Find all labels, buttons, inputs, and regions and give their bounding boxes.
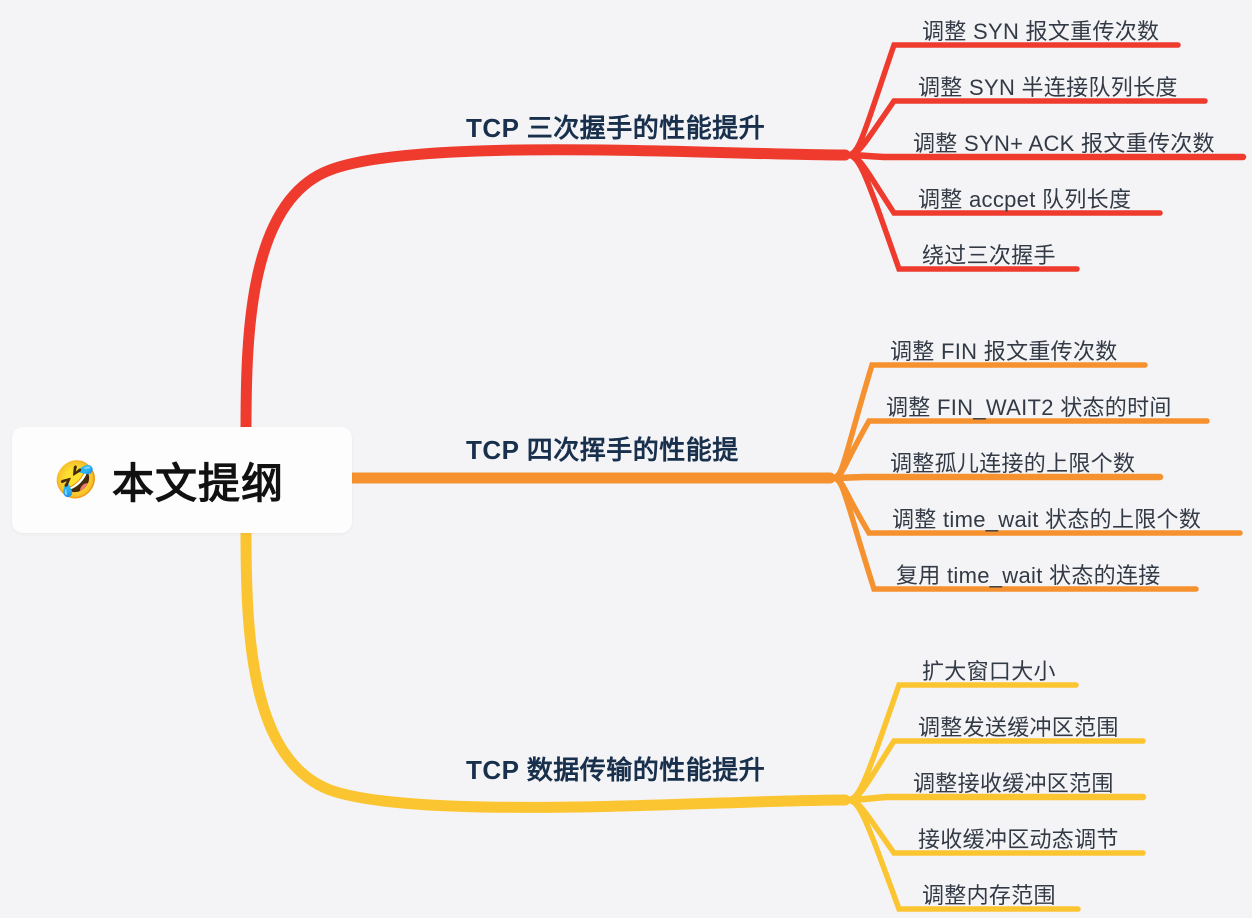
branch-label-three-way-handshake[interactable]: TCP 三次握手的性能提升 bbox=[466, 108, 765, 145]
leaf-label-four-way-wavehand-0[interactable]: 调整 FIN 报文重传次数 bbox=[890, 334, 1118, 366]
branch-label-data-transfer[interactable]: TCP 数据传输的性能提升 bbox=[466, 750, 765, 787]
leaf-label-three-way-handshake-2[interactable]: 调整 SYN+ ACK 报文重传次数 bbox=[913, 126, 1215, 158]
leaf-label-data-transfer-0[interactable]: 扩大窗口大小 bbox=[922, 654, 1056, 686]
leaf-label-data-transfer-4[interactable]: 调整内存范围 bbox=[922, 878, 1056, 910]
branch-label-four-way-wavehand[interactable]: TCP 四次挥手的性能提 bbox=[466, 430, 739, 467]
leaf-label-three-way-handshake-1[interactable]: 调整 SYN 半连接队列长度 bbox=[918, 70, 1178, 102]
leaf-label-four-way-wavehand-1[interactable]: 调整 FIN_WAIT2 状态的时间 bbox=[886, 390, 1172, 422]
leaf-label-four-way-wavehand-3[interactable]: 调整 time_wait 状态的上限个数 bbox=[892, 502, 1201, 534]
root-node-title: 本文提纲 bbox=[112, 450, 284, 511]
rofl-emoji: 🤣 bbox=[56, 460, 96, 500]
leaf-label-four-way-wavehand-2[interactable]: 调整孤儿连接的上限个数 bbox=[890, 446, 1135, 478]
leaf-label-data-transfer-3[interactable]: 接收缓冲区动态调节 bbox=[918, 822, 1119, 854]
branch-trunk-three-way-handshake bbox=[246, 150, 845, 430]
branch-three-way-handshake bbox=[246, 45, 1243, 430]
leaf-label-four-way-wavehand-4[interactable]: 复用 time_wait 状态的连接 bbox=[896, 558, 1161, 590]
leaf-label-three-way-handshake-0[interactable]: 调整 SYN 报文重传次数 bbox=[922, 14, 1159, 46]
root-node-card[interactable]: 🤣 本文提纲 bbox=[12, 427, 352, 533]
leaf-label-data-transfer-2[interactable]: 调整接收缓冲区范围 bbox=[913, 766, 1114, 798]
leaf-label-data-transfer-1[interactable]: 调整发送缓冲区范围 bbox=[918, 710, 1119, 742]
leaf-label-three-way-handshake-4[interactable]: 绕过三次握手 bbox=[922, 238, 1056, 270]
leaf-label-three-way-handshake-3[interactable]: 调整 accpet 队列长度 bbox=[918, 182, 1131, 214]
